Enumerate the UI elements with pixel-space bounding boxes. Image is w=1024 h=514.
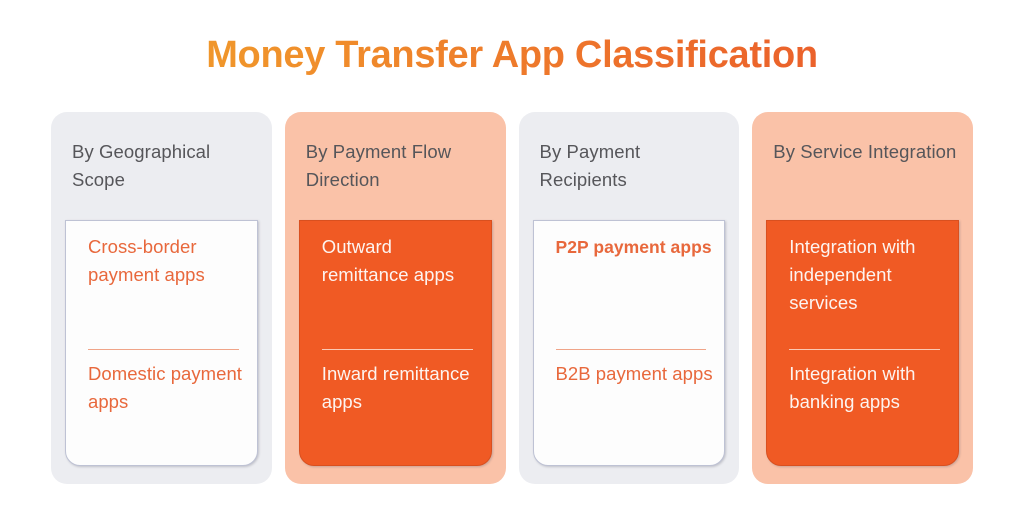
panel-slot-bottom: Inward remittance apps (322, 360, 481, 416)
infographic-canvas: Money Transfer App Classification By Geo… (0, 0, 1024, 514)
column-panel: P2P payment apps B2B payment apps (533, 220, 726, 466)
panel-divider (789, 349, 940, 350)
list-item[interactable]: P2P payment apps (556, 233, 715, 261)
panel-divider (88, 349, 239, 350)
column-panel: Cross-border payment apps Domestic payme… (65, 220, 258, 466)
panel-divider (322, 349, 473, 350)
list-item[interactable]: Outward remittance apps (322, 233, 481, 289)
column-header: By Service Integration (773, 138, 957, 166)
panel-slot-top: Cross-border payment apps (88, 233, 247, 349)
list-item[interactable]: Integration with banking apps (789, 360, 948, 416)
list-item[interactable]: Domestic payment apps (88, 360, 247, 416)
classification-column-2: By Payment Flow Direction Outward remitt… (285, 112, 506, 484)
classification-column-3: By Payment Recipients P2P payment apps B… (519, 112, 740, 484)
list-item[interactable]: Integration with independent services (789, 233, 948, 317)
list-item[interactable]: Cross-border payment apps (88, 233, 247, 289)
panel-content: Integration with independent services In… (789, 233, 948, 459)
classification-columns: By Geographical Scope Cross-border payme… (51, 112, 973, 484)
column-header: By Payment Recipients (540, 138, 724, 194)
panel-slot-bottom: Domestic payment apps (88, 360, 247, 416)
column-panel: Integration with independent services In… (766, 220, 959, 466)
panel-content: P2P payment apps B2B payment apps (556, 233, 715, 459)
panel-content: Cross-border payment apps Domestic payme… (88, 233, 247, 459)
panel-content: Outward remittance apps Inward remittanc… (322, 233, 481, 459)
list-item[interactable]: B2B payment apps (556, 360, 715, 388)
page-title: Money Transfer App Classification (0, 28, 1024, 82)
panel-divider (556, 349, 707, 350)
panel-slot-top: Outward remittance apps (322, 233, 481, 349)
classification-column-1: By Geographical Scope Cross-border payme… (51, 112, 272, 484)
column-header: By Geographical Scope (72, 138, 256, 194)
column-panel: Outward remittance apps Inward remittanc… (299, 220, 492, 466)
panel-slot-top: P2P payment apps (556, 233, 715, 349)
panel-slot-bottom: Integration with banking apps (789, 360, 948, 416)
list-item[interactable]: Inward remittance apps (322, 360, 481, 416)
panel-slot-top: Integration with independent services (789, 233, 948, 349)
panel-slot-bottom: B2B payment apps (556, 360, 715, 388)
classification-column-4: By Service Integration Integration with … (752, 112, 973, 484)
column-header: By Payment Flow Direction (306, 138, 490, 194)
